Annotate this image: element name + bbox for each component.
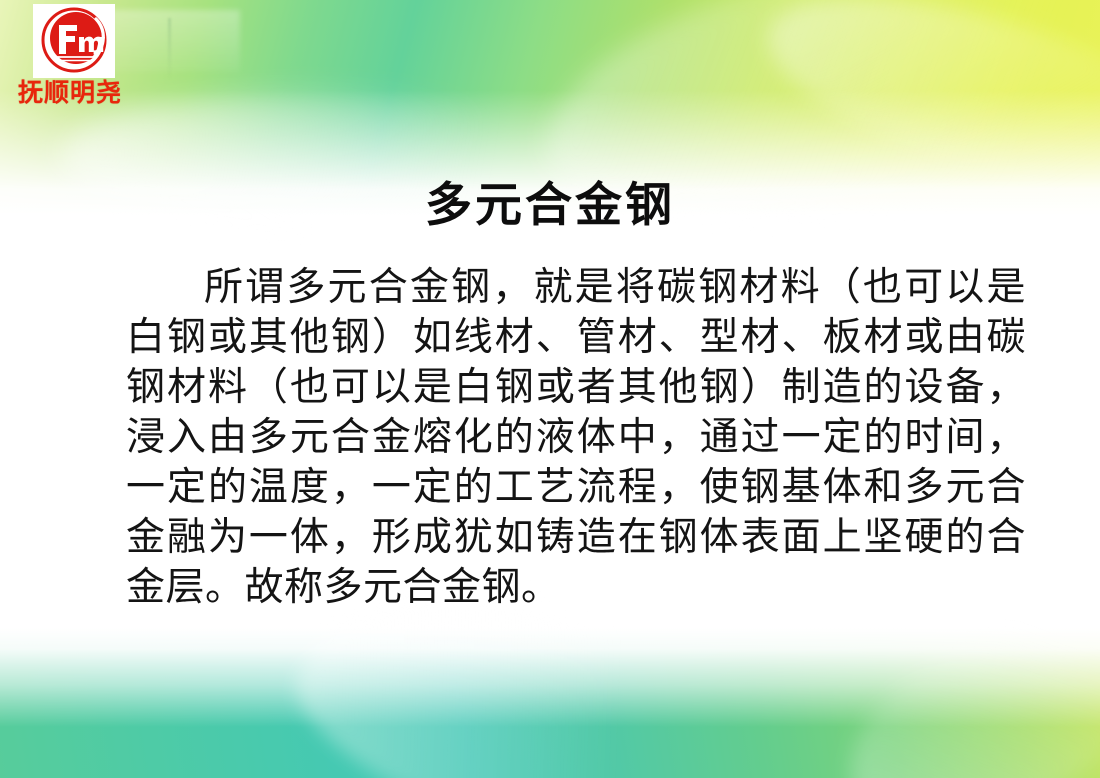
slide-content: 多元合金钢 所谓多元合金钢，就是将碳钢材料（也可以是白钢或其他钢）如线材、管材、…	[0, 0, 1100, 778]
presentation-slide: 抚顺明尧 多元合金钢 所谓多元合金钢，就是将碳钢材料（也可以是白钢或其他钢）如线…	[0, 0, 1100, 778]
slide-title: 多元合金钢	[0, 166, 1100, 235]
slide-body-paragraph: 所谓多元合金钢，就是将碳钢材料（也可以是白钢或其他钢）如线材、管材、型材、板材或…	[126, 263, 1026, 613]
company-name-label: 抚顺明尧	[18, 80, 158, 108]
company-logo: 抚顺明尧	[8, 4, 158, 108]
fmy-logo-icon	[33, 4, 115, 78]
